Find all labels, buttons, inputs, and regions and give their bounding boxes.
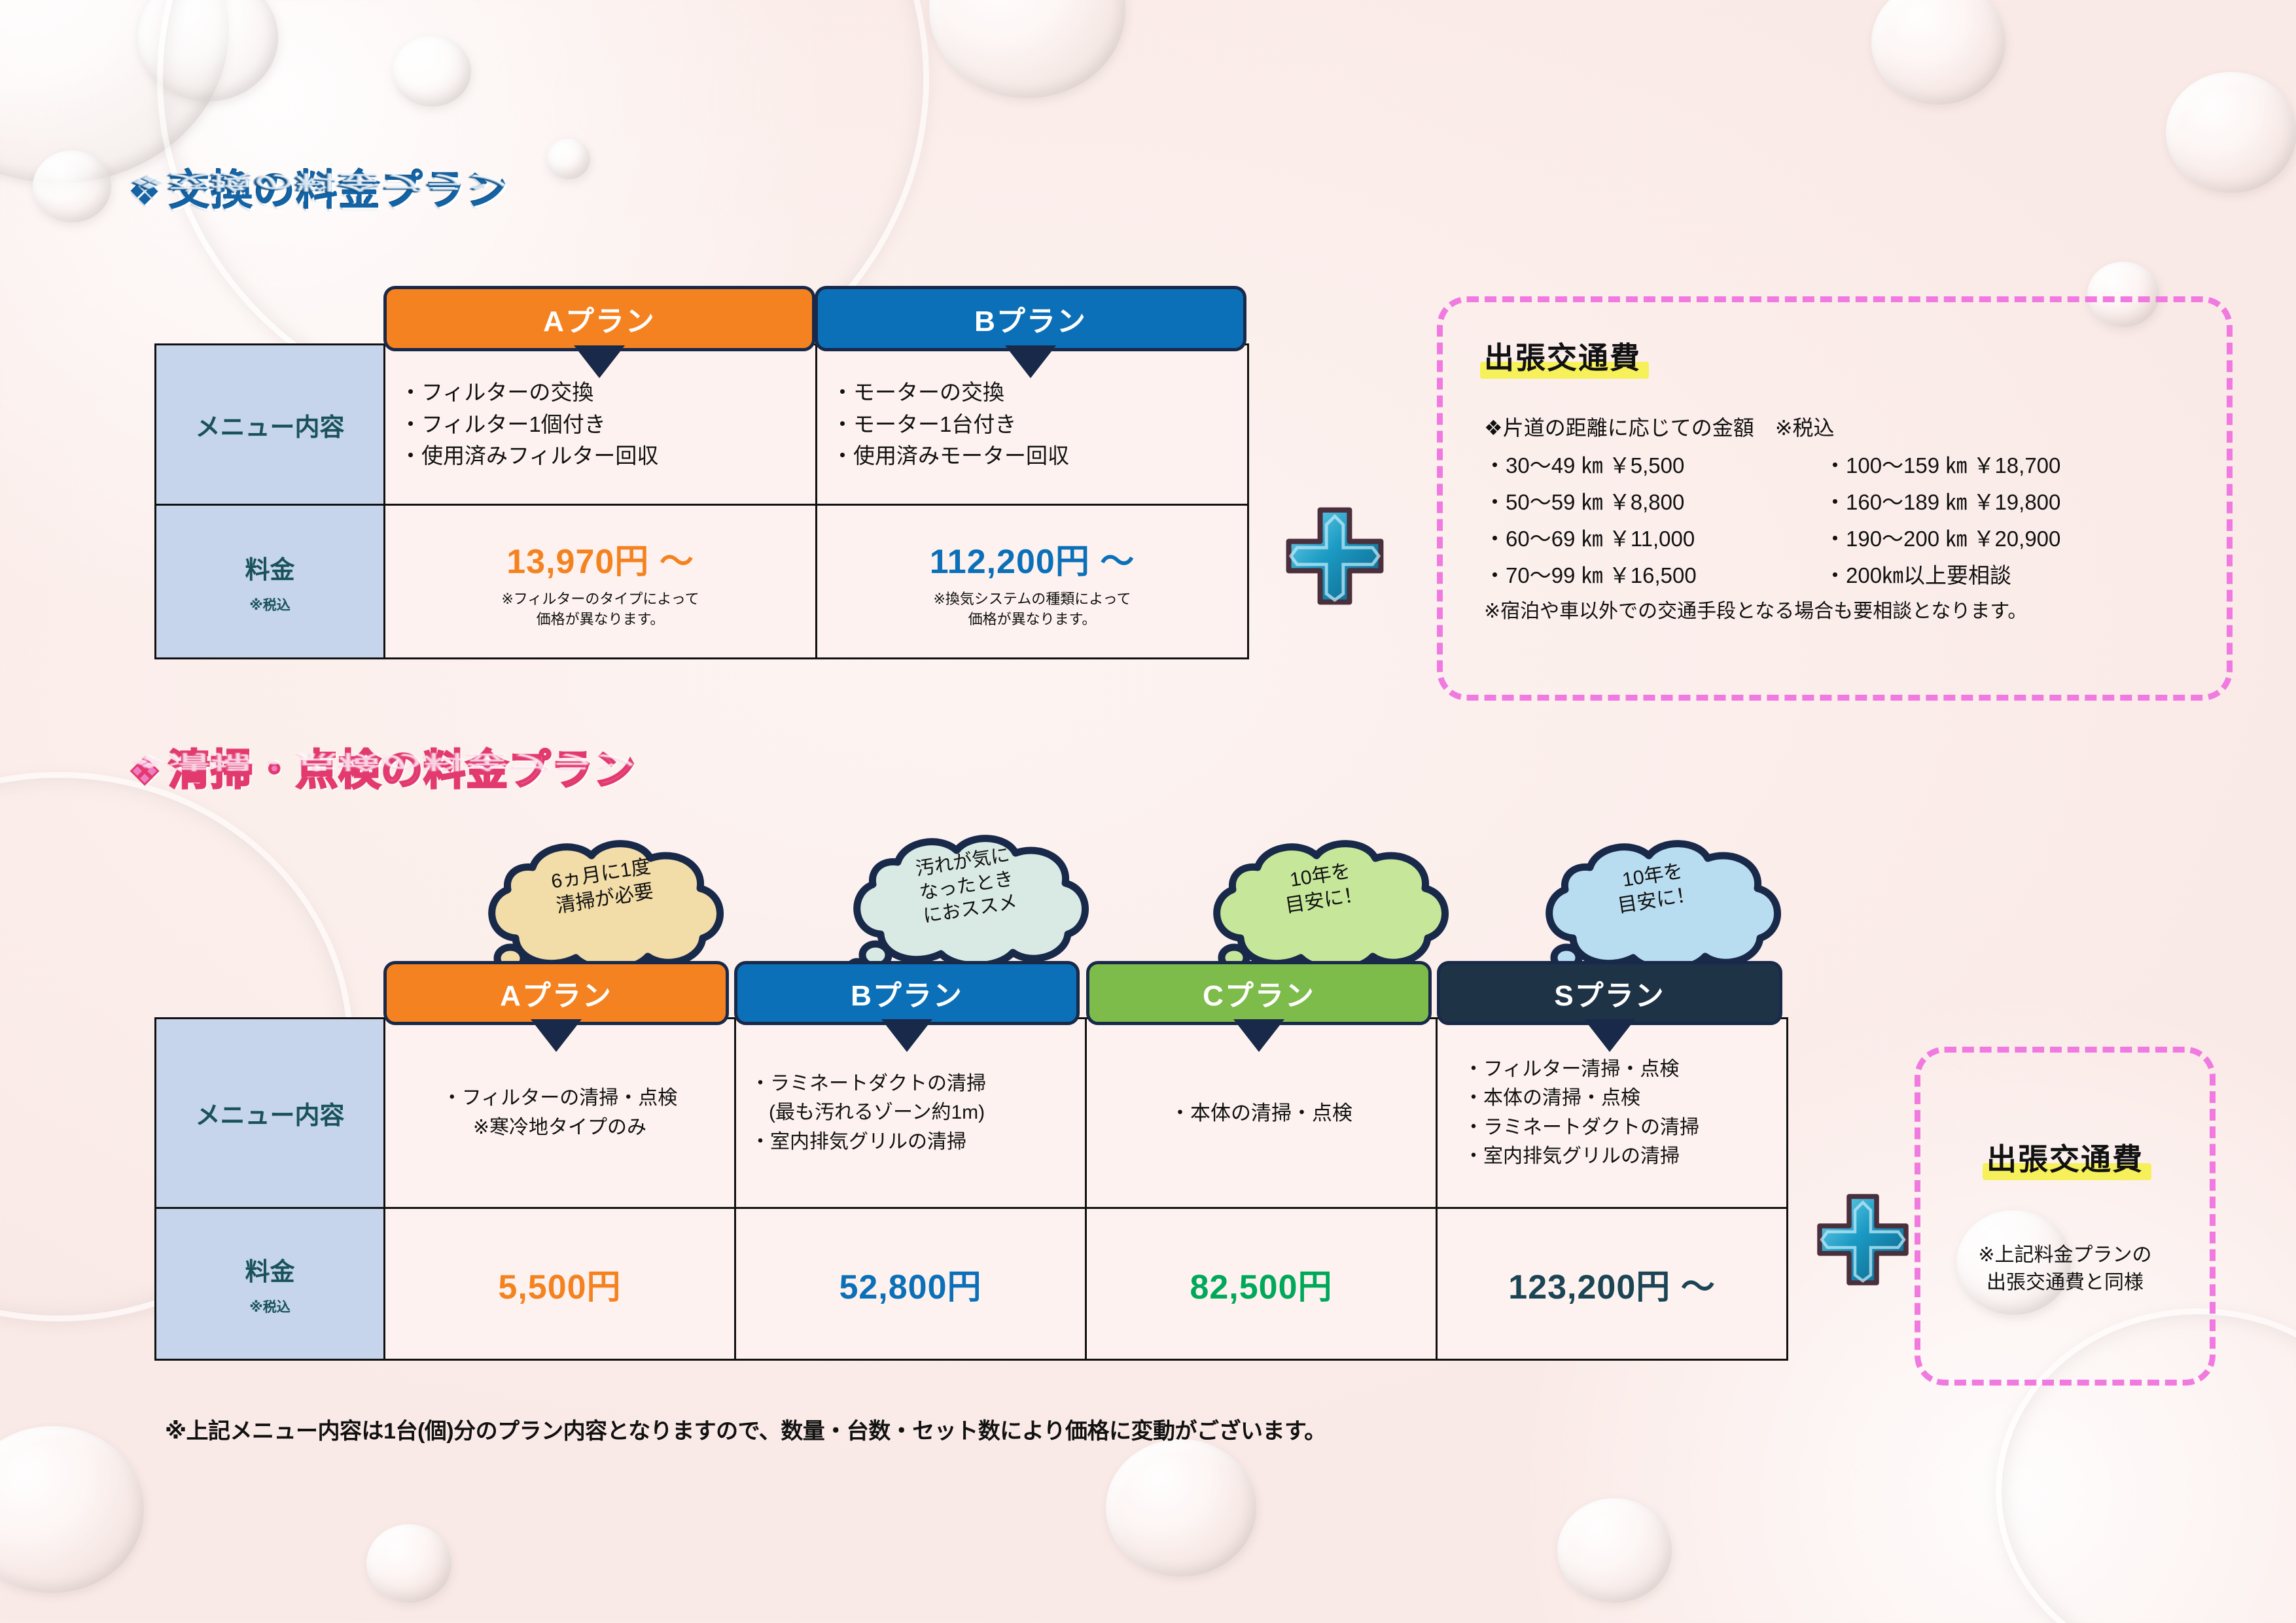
travel-fee-content: 出張交通費 ❖片道の距離に応じての金額 ※税込 ・30～49 ㎞ ￥5,500 … — [1437, 296, 2233, 623]
bullet-item: ・フィルターの清掃・点検 — [400, 1084, 720, 1113]
tab-label: Bプラン — [851, 972, 963, 1014]
diamond-icon: ❖ — [128, 751, 162, 792]
bullet-list: ・ラミネートダクトの清掃 (最も汚れるゾーン約1m) ・室内排気グリルの清掃 — [751, 1070, 1070, 1157]
price-note-line: 価格が異なります。 — [824, 610, 1241, 629]
tab-label: Aプラン — [543, 298, 656, 340]
table-row: メニュー内容 ・フィルターの交換 ・フィルター1個付き ・使用済みフィルター回収… — [156, 345, 1248, 505]
rate-item: ・30～49 ㎞ ￥5,500 — [1484, 448, 1824, 480]
row-label-price: 料金 ※税込 — [156, 1208, 385, 1360]
bullet-item: ・使用済みモーター回収 — [832, 440, 1233, 472]
tab-exchange-plan-a[interactable]: Aプラン — [383, 286, 815, 351]
section-1-title-text: 交換の料金プラン — [168, 167, 508, 214]
row-label-text: メニュー内容 — [156, 407, 383, 443]
bullet-item: ・モーターの交換 — [832, 377, 1233, 409]
cell-clean-b-price: 52,800円 — [735, 1208, 1086, 1360]
tab-label: Sプラン — [1554, 972, 1665, 1014]
bullet-item: ・室内排気グリルの清掃 — [1464, 1142, 1772, 1171]
row-label-text: 料金 — [156, 1251, 383, 1287]
droplet-decoration — [393, 36, 471, 107]
travel-fee-footnote: ※宿泊や車以外での交通手段となる場合も要相談となります。 — [1484, 595, 2196, 623]
section-2-title-text: 清掃・点検の料金プラン — [168, 746, 636, 794]
rate-item: ・200㎞以上要相談 — [1824, 558, 2196, 589]
bubble-plan-a: 6ヵ月に1度 清掃が必要 — [470, 839, 734, 956]
bullet-item: ・ラミネートダクトの清掃 — [1464, 1113, 1772, 1142]
droplet-decoration — [1557, 1498, 1672, 1603]
travel-fee-title-2: 出張交通費 — [1987, 1136, 2144, 1179]
price-value: 112,200円 ～ — [824, 534, 1241, 583]
travel-fee-title: 出張交通費 — [1484, 334, 1641, 377]
bullet-item: ・室内排気グリルの清掃 — [751, 1128, 1070, 1157]
cell-clean-s-price: 123,200円 ～ — [1437, 1208, 1788, 1360]
row-label-text: 料金 — [156, 550, 383, 585]
table-row: メニュー内容 ・フィルターの清掃・点検 ※寒冷地タイプのみ ・ラミネートダクトの… — [156, 1019, 1788, 1208]
droplet-decoration — [1871, 0, 2005, 105]
price-note: ※フィルターのタイプによって 価格が異なります。 — [392, 589, 809, 629]
bullet-list: ・フィルターの清掃・点検 ※寒冷地タイプのみ — [400, 1084, 720, 1142]
rate-item: ・50～59 ㎞ ￥8,800 — [1484, 485, 1824, 516]
note-line: 出張交通費と同様 — [1978, 1269, 2151, 1297]
droplet-decoration — [0, 1426, 144, 1593]
tab-clean-plan-a[interactable]: Aプラン — [383, 961, 729, 1025]
droplet-decoration — [2166, 72, 2296, 193]
travel-fee-box: 出張交通費 ❖片道の距離に応じての金額 ※税込 ・30～49 ㎞ ￥5,500 … — [1437, 296, 2233, 701]
bullet-list: ・フィルター清掃・点検 ・本体の清掃・点検 ・ラミネートダクトの清掃 ・室内排気… — [1464, 1055, 1772, 1172]
droplet-decoration — [1106, 1439, 1256, 1577]
price-value: 52,800円 — [743, 1259, 1078, 1308]
price-value: 5,500円 — [392, 1259, 728, 1308]
rate-item: ・70～99 ㎞ ￥16,500 — [1484, 558, 1824, 589]
bullet-item: ・本体の清掃・点検 — [1464, 1084, 1772, 1113]
droplet-decoration — [366, 1524, 451, 1603]
row-label-price: 料金 ※税込 — [156, 505, 385, 659]
bullet-list: ・モーターの交換 ・モーター1台付き ・使用済みモーター回収 — [832, 377, 1233, 472]
travel-fee-heading: ❖片道の距離に応じての金額 ※税込 — [1484, 411, 2196, 442]
cell-clean-a-price: 5,500円 — [385, 1208, 735, 1360]
footer-note: ※上記メニュー内容は1台(個)分のプラン内容となりますので、数量・台数・セット数… — [165, 1413, 1326, 1445]
note-line: ※上記料金プランの — [1978, 1242, 2151, 1269]
row-label-subtext: ※税込 — [156, 595, 383, 614]
tab-label: Cプラン — [1203, 972, 1315, 1014]
row-label-menu-content: メニュー内容 — [156, 345, 385, 505]
price-value: 123,200円 ～ — [1444, 1259, 1780, 1308]
row-label-text: メニュー内容 — [156, 1095, 383, 1131]
droplet-decoration — [547, 139, 590, 179]
tab-label: Bプラン — [974, 298, 1087, 340]
cell-plan-a-price: 13,970円 ～ ※フィルターのタイプによって 価格が異なります。 — [385, 505, 817, 659]
rate-item: ・190～200 ㎞ ￥20,900 — [1824, 521, 2196, 553]
droplet-decoration — [137, 0, 278, 101]
tab-clean-plan-s[interactable]: Sプラン — [1437, 961, 1782, 1025]
diamond-icon: ❖ — [128, 171, 162, 213]
bullet-list: ・フィルターの交換 ・フィルター1個付き ・使用済みフィルター回収 — [400, 377, 801, 472]
price-note-line: ※フィルターのタイプによって — [392, 589, 809, 609]
bullet-item: ・フィルター清掃・点検 — [1464, 1055, 1772, 1084]
droplet-decoration — [33, 150, 111, 222]
bullet-item: ・フィルターの交換 — [400, 377, 801, 409]
section-1-title: ❖交換の料金プラン — [128, 157, 508, 217]
table-row: 料金 ※税込 13,970円 ～ ※フィルターのタイプによって 価格が異なります… — [156, 505, 1248, 659]
price-note-line: ※換気システムの種類によって — [824, 589, 1241, 609]
rate-item: ・100～159 ㎞ ￥18,700 — [1824, 448, 2196, 480]
bubble-plan-s: 10年を 目安に！ — [1527, 839, 1782, 956]
section-2-title: ❖清掃・点検の料金プラン — [128, 737, 636, 797]
bubble-plan-b: 汚れが気に なったとき におススメ — [835, 832, 1095, 956]
exchange-price-table: メニュー内容 ・フィルターの交換 ・フィルター1個付き ・使用済みフィルター回収… — [154, 343, 1249, 659]
tab-label: Aプラン — [500, 972, 612, 1014]
droplet-decoration — [0, 0, 229, 183]
plus-icon — [1282, 504, 1387, 612]
travel-fee-note-2: ※上記料金プランの 出張交通費と同様 — [1978, 1242, 2151, 1297]
plus-icon — [1814, 1191, 1912, 1292]
bullet-item: ・フィルター1個付き — [400, 409, 801, 441]
bubble-plan-c: 10年を 目安に！ — [1195, 839, 1450, 956]
bullet-list: ・本体の清掃・点検 — [1101, 1098, 1421, 1128]
price-note: ※換気システムの種類によって 価格が異なります。 — [824, 589, 1241, 629]
rate-item: ・60～69 ㎞ ￥11,000 — [1484, 521, 1824, 553]
bullet-item: ・ラミネートダクトの清掃 — [751, 1070, 1070, 1098]
price-value: 13,970円 ～ — [392, 534, 809, 583]
price-note-line: 価格が異なります。 — [392, 610, 809, 629]
bullet-item: ※寒冷地タイプのみ — [400, 1113, 720, 1142]
tab-exchange-plan-b[interactable]: Bプラン — [815, 286, 1246, 351]
bullet-item: ・使用済みフィルター回収 — [400, 440, 801, 472]
tab-clean-plan-b[interactable]: Bプラン — [734, 961, 1080, 1025]
table-row: 料金 ※税込 5,500円 52,800円 82,500円 123,200円 ～ — [156, 1208, 1788, 1360]
travel-fee-content-2: 出張交通費 ※上記料金プランの 出張交通費と同様 — [1915, 1047, 2216, 1386]
bullet-item: (最も汚れるゾーン約1m) — [751, 1098, 1070, 1127]
cell-plan-b-price: 112,200円 ～ ※換気システムの種類によって 価格が異なります。 — [817, 505, 1248, 659]
bullet-item: ・本体の清掃・点検 — [1101, 1098, 1421, 1128]
travel-fee-box-2: 出張交通費 ※上記料金プランの 出張交通費と同様 — [1915, 1047, 2216, 1386]
rate-item: ・160～189 ㎞ ￥19,800 — [1824, 485, 2196, 516]
price-value: 82,500円 — [1093, 1259, 1429, 1308]
row-label-subtext: ※税込 — [156, 1297, 383, 1316]
cell-clean-c-price: 82,500円 — [1086, 1208, 1437, 1360]
cleaning-price-table: メニュー内容 ・フィルターの清掃・点検 ※寒冷地タイプのみ ・ラミネートダクトの… — [154, 1017, 1788, 1361]
travel-fee-rate-grid: ・30～49 ㎞ ￥5,500 ・100～159 ㎞ ￥18,700 ・50～5… — [1484, 448, 2196, 589]
droplet-decoration — [929, 0, 1125, 98]
bullet-item: ・モーター1台付き — [832, 409, 1233, 441]
tab-clean-plan-c[interactable]: Cプラン — [1086, 961, 1432, 1025]
row-label-menu-content: メニュー内容 — [156, 1019, 385, 1208]
